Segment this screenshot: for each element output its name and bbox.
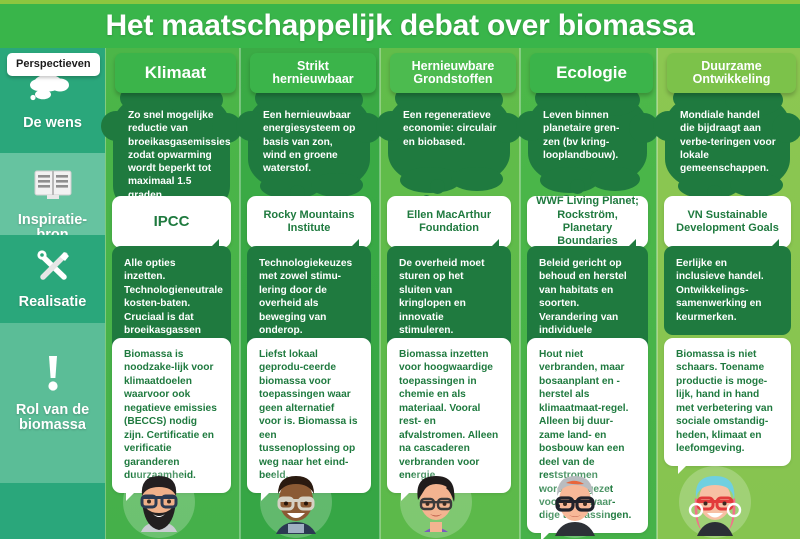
blue-hair-woman-avatar	[683, 468, 747, 539]
dark-skinned-man-avatar	[264, 468, 328, 539]
bron-text-ecologie: WWF Living Planet; Rockström, Planetary …	[535, 195, 640, 249]
grey-hair-person-avatar	[543, 468, 607, 539]
thought-tail-large	[430, 179, 445, 194]
wens-text-ecologie: Leven binnen planetaire gren-zen (bv kri…	[543, 109, 634, 162]
avatar-klimaat	[123, 466, 195, 538]
bron-text-duurzame-ontwikkeling: VN Sustainable Development Goals	[672, 209, 783, 236]
bron-text-hernieuwbare-grondstoffen: Ellen MacArthur Foundation	[395, 209, 503, 236]
wens-bubble-hernieuwbare-grondstoffen: Een regeneratieve economie: circulair en…	[388, 95, 510, 183]
bron-text-klimaat: IPCC	[154, 213, 190, 231]
realisatie-text-duurzame-ontwikkeling: Eerlijke en inclusieve handel. Ontwikkel…	[676, 258, 764, 323]
realisatie-text-hernieuwbare-grondstoffen: De overheid moet sturen op het sluiten v…	[399, 258, 485, 336]
column-chip-strikt-hernieuwbaar[interactable]: Strikt hernieuwbaar	[250, 53, 376, 93]
rail-band-footer-band	[0, 483, 105, 539]
tools-icon	[33, 249, 73, 283]
exclamation-icon	[42, 354, 64, 394]
column-chip-hernieuwbare-grondstoffen[interactable]: Hernieuwbare Grondstoffen	[390, 53, 516, 93]
rail-icon-wrap-inspiratiebron	[0, 161, 105, 207]
wens-text-hernieuwbare-grondstoffen: Een regeneratieve economie: circulair en…	[403, 109, 497, 149]
avatar-hernieuwbare-grondstoffen	[400, 466, 472, 538]
short-hair-woman-avatar	[404, 468, 468, 539]
bearded-man-avatar	[127, 468, 191, 539]
wens-text-strikt-hernieuwbaar: Een hernieuwbaar energiesysteem op basis…	[263, 109, 357, 175]
speech-nub	[490, 239, 499, 248]
avatar-ecologie	[539, 466, 611, 538]
wens-text-duurzame-ontwikkeling: Mondiale handel die bijdraagt aan verbe-…	[680, 109, 777, 175]
rail-label-realisatie: Realisatie	[0, 295, 105, 310]
realisatie-text-strikt-hernieuwbaar: Technologiekeuzes met zowel stimu-lering…	[259, 258, 352, 336]
rol-text-hernieuwbare-grondstoffen: Biomassa inzetten voor hoogwaardige toep…	[399, 349, 498, 481]
avatar-duurzame-ontwikkeling	[679, 466, 751, 538]
thought-tail-large	[570, 179, 585, 194]
column-chip-klimaat[interactable]: Klimaat	[115, 53, 236, 93]
wens-bubble-strikt-hernieuwbaar: Een hernieuwbaar energiesysteem op basis…	[248, 95, 370, 189]
wens-text-klimaat: Zo snel mogelijke reductie van broeikasg…	[128, 109, 217, 202]
rol-card-duurzame-ontwikkeling: Biomassa is niet schaars. Toename produc…	[664, 338, 791, 466]
open-book-icon	[33, 168, 73, 200]
rol-text-klimaat: Biomassa is noodzake-lijk voor klimaatdo…	[124, 349, 217, 481]
title-bar: Het maatschappelijk debat over biomassa	[0, 4, 800, 48]
rol-text-strikt-hernieuwbaar: Liefst lokaal geprodu-ceerde biomassa vo…	[259, 349, 358, 481]
left-rail: De wens Inspiratie- bron Realisatie Rol …	[0, 48, 105, 539]
speech-nub	[770, 239, 779, 248]
column-chip-duurzame-ontwikkeling[interactable]: Duurzame Ontwikkeling	[667, 53, 796, 93]
realisatie-card-strikt-hernieuwbaar: Technologiekeuzes met zowel stimu-lering…	[247, 246, 371, 349]
speech-nub	[210, 239, 219, 248]
perspectieven-label: Perspectieven	[7, 53, 100, 76]
column-chip-ecologie[interactable]: Ecologie	[530, 53, 653, 93]
wens-bubble-duurzame-ontwikkeling: Mondiale handel die bijdraagt aan verbe-…	[665, 95, 790, 189]
speech-nub	[350, 239, 359, 248]
rail-label-de-wens: De wens	[0, 116, 105, 131]
rail-icon-wrap-rol-biomassa	[0, 351, 105, 397]
page-title: Het maatschappelijk debat over biomassa	[105, 9, 694, 43]
realisatie-card-duurzame-ontwikkeling: Eerlijke en inclusieve handel. Ontwikkel…	[664, 246, 791, 335]
avatar-strikt-hernieuwbaar	[260, 466, 332, 538]
rail-label-rol-biomassa: Rol van de biomassa	[0, 403, 105, 433]
realisatie-text-ecologie: Beleid gericht op behoud en herstel van …	[539, 258, 627, 350]
infographic-canvas: Het maatschappelijk debat over biomassa …	[0, 0, 800, 539]
rail-band-realisatie: Realisatie	[0, 235, 105, 323]
realisatie-card-hernieuwbare-grondstoffen: De overheid moet sturen op het sluiten v…	[387, 246, 511, 349]
bron-text-strikt-hernieuwbaar: Rocky Mountains Institute	[255, 209, 363, 236]
speech-nub	[627, 239, 636, 248]
wens-bubble-ecologie: Leven binnen planetaire gren-zen (bv kri…	[528, 95, 647, 183]
thought-cloud-icon	[26, 72, 80, 102]
rail-icon-wrap-realisatie	[0, 243, 105, 289]
rol-text-duurzame-ontwikkeling: Biomassa is niet schaars. Toename produc…	[676, 349, 773, 454]
rail-band-rol-biomassa: Rol van de biomassa	[0, 323, 105, 483]
rail-band-inspiratiebron: Inspiratie- bron	[0, 153, 105, 235]
